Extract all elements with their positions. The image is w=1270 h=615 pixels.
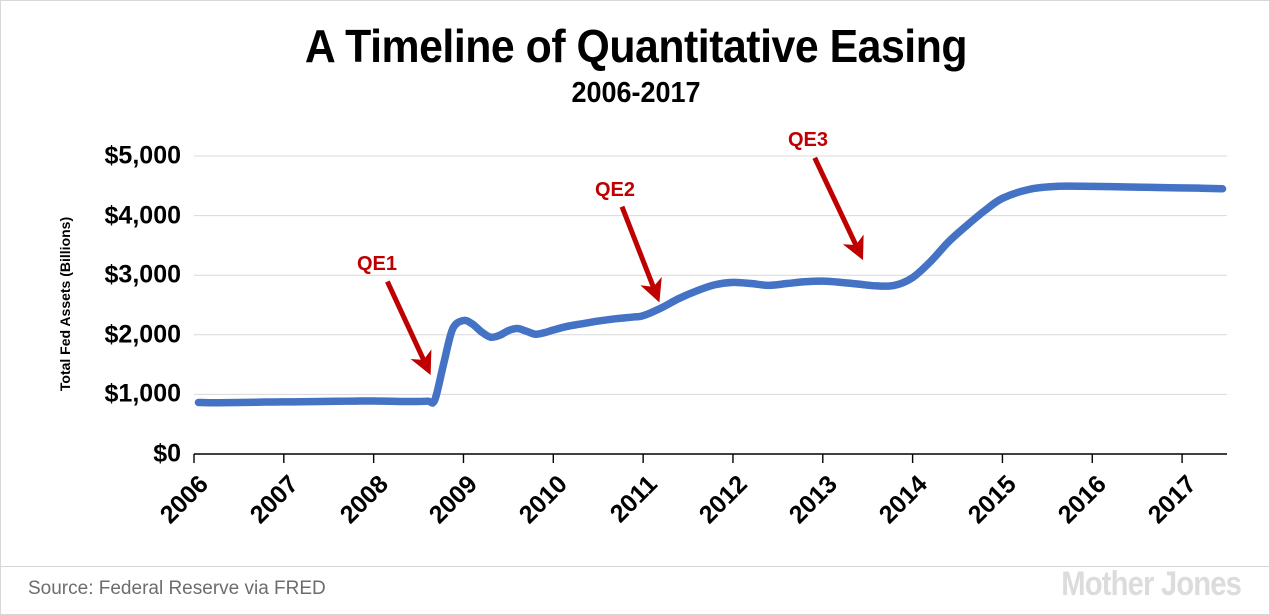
x-tick-label: 2010 [468, 470, 573, 575]
chart-title: A Timeline of Quantitative Easing [45, 19, 1226, 73]
y-tick-label: $4,000 [41, 201, 181, 230]
chart-subtitle: 2006-2017 [45, 77, 1226, 110]
qe-label-qe3: QE3 [788, 129, 828, 152]
y-tick-label: $3,000 [41, 261, 181, 290]
x-tick-label: 2007 [199, 470, 304, 575]
x-tick-label: 2015 [918, 470, 1023, 575]
data-line-fed-assets [198, 186, 1222, 403]
plot-area [194, 156, 1227, 454]
plot-svg [194, 156, 1227, 454]
qe-label-qe2: QE2 [595, 179, 635, 202]
y-tick-label: $2,000 [41, 320, 181, 349]
mother-jones-logo: Mother Jones [1061, 565, 1241, 604]
x-tick-label: 2006 [109, 470, 214, 575]
x-tick-label: 2012 [648, 470, 753, 575]
x-axis-tick-marks [194, 454, 1182, 463]
y-tick-label: $0 [41, 440, 181, 469]
x-tick-label: 2011 [558, 470, 663, 575]
qe-label-qe1: QE1 [357, 253, 397, 276]
x-tick-label: 2014 [828, 470, 933, 575]
gridlines [194, 156, 1227, 394]
qe-timeline-chart: A Timeline of Quantitative Easing 2006-2… [1, 1, 1269, 614]
x-tick-label: 2017 [1097, 470, 1202, 575]
x-tick-label: 2013 [738, 470, 843, 575]
x-tick-label: 2008 [289, 470, 394, 575]
y-tick-label: $5,000 [41, 142, 181, 171]
y-tick-label: $1,000 [41, 380, 181, 409]
source-credit: Source: Federal Reserve via FRED [28, 578, 326, 600]
x-tick-label: 2016 [1007, 470, 1112, 575]
x-tick-label: 2009 [379, 470, 484, 575]
